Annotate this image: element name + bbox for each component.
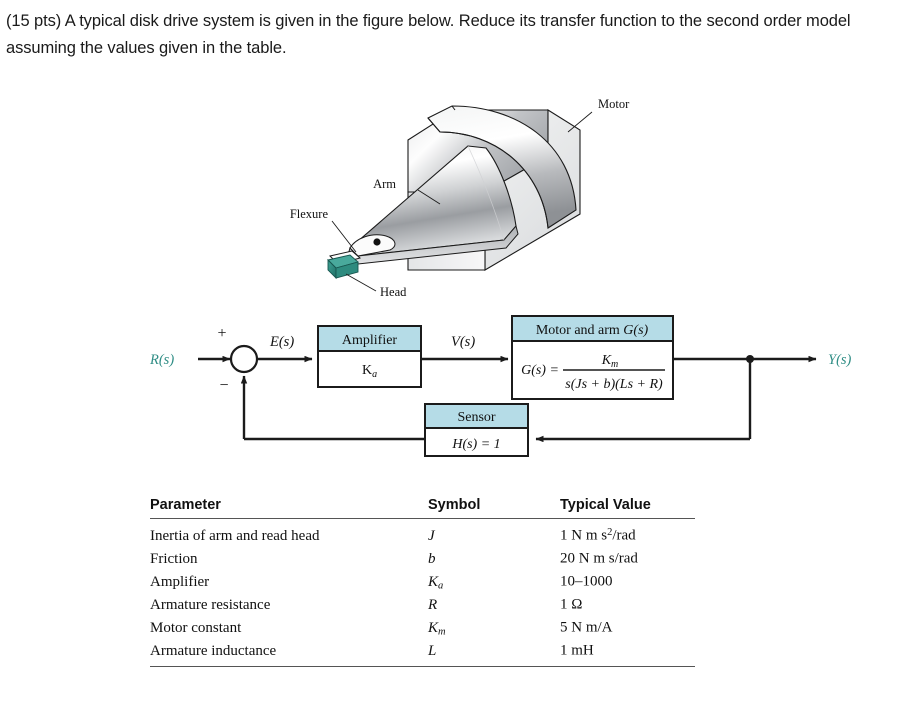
- symbol-subscript: a: [438, 580, 443, 591]
- sensor-block-header: Sensor: [457, 410, 495, 425]
- cell-value: 1 N m s2/rad: [560, 519, 695, 548]
- cell-value: 20 N m s/rad: [560, 548, 695, 571]
- table-header-row: Parameter Symbol Typical Value: [150, 497, 695, 519]
- cell-value: 10–1000: [560, 571, 695, 594]
- value-pre: 5 N m/A: [560, 620, 613, 636]
- control-system-block-diagram: R(s) + − E(s) Amplifier Ka V(s): [140, 308, 900, 458]
- summing-minus-sign: −: [219, 377, 228, 394]
- figure-label-flexure: Flexure: [290, 207, 329, 221]
- motor-arm-denominator: s(Js + b)(Ls + R): [565, 377, 663, 392]
- cell-symbol: b: [428, 548, 560, 571]
- disk-drive-mechanical-figure: Motor Arm Flexure Head: [280, 88, 700, 308]
- header-typical-value: Typical Value: [560, 497, 695, 519]
- figure-label-arm: Arm: [373, 177, 396, 191]
- symbol-main: K: [428, 620, 438, 636]
- amplifier-block-header: Amplifier: [342, 333, 398, 348]
- sensor-block-transfer: H(s) = 1: [451, 437, 500, 452]
- figure-label-motor: Motor: [598, 97, 630, 111]
- value-post: /rad: [612, 528, 635, 544]
- motor-arm-block-header: Motor and arm G(s): [536, 323, 649, 338]
- table-row: Armature resistance R 1 Ω: [150, 594, 695, 617]
- figure-label-head: Head: [380, 285, 407, 299]
- head-leader-line: [346, 274, 376, 291]
- motor-arm-lhs: G(s) =: [521, 363, 559, 378]
- motor-and-arm-block: Motor and arm G(s) G(s) = Km s(Js + b)(L…: [512, 316, 673, 399]
- cell-parameter: Amplifier: [150, 571, 428, 594]
- value-pre: 1 N m s: [560, 528, 607, 544]
- table-row: Friction b 20 N m s/rad: [150, 548, 695, 571]
- symbol-main: J: [428, 528, 435, 544]
- signal-label-input: R(s): [149, 352, 174, 368]
- table-body: Inertia of arm and read head J 1 N m s2/…: [150, 519, 695, 667]
- signal-label-error: E(s): [269, 334, 294, 350]
- symbol-main: R: [428, 597, 437, 613]
- signal-label-output: Y(s): [828, 352, 852, 368]
- cell-parameter: Friction: [150, 548, 428, 571]
- table-row: Armature inductance L 1 mH: [150, 640, 695, 667]
- value-pre: 10–1000: [560, 574, 613, 590]
- parameter-table: Parameter Symbol Typical Value Inertia o…: [150, 497, 695, 667]
- cell-parameter: Motor constant: [150, 617, 428, 640]
- symbol-subscript: m: [438, 626, 446, 637]
- table-row: Amplifier Ka 10–1000: [150, 571, 695, 594]
- cell-value: 1 Ω: [560, 594, 695, 617]
- symbol-main: b: [428, 551, 436, 567]
- signal-label-amp-out: V(s): [451, 334, 475, 350]
- cell-parameter: Armature resistance: [150, 594, 428, 617]
- cell-value: 1 mH: [560, 640, 695, 667]
- cell-symbol: J: [428, 519, 560, 548]
- value-pre: 1 mH: [560, 643, 594, 659]
- symbol-main: L: [428, 643, 436, 659]
- value-pre: 20 N m s/rad: [560, 551, 638, 567]
- cell-symbol: Ka: [428, 571, 560, 594]
- question-prompt-text: (15 pts) A typical disk drive system is …: [6, 8, 886, 62]
- cell-value: 5 N m/A: [560, 617, 695, 640]
- flexure-leader-line: [332, 221, 356, 252]
- amplifier-block: Amplifier Ka: [318, 326, 421, 387]
- value-pre: 1 Ω: [560, 597, 582, 613]
- cell-symbol: L: [428, 640, 560, 667]
- table-row: Motor constant Km 5 N m/A: [150, 617, 695, 640]
- header-symbol: Symbol: [428, 497, 560, 519]
- cell-symbol: R: [428, 594, 560, 617]
- cell-parameter: Inertia of arm and read head: [150, 519, 428, 548]
- pivot-dot-icon: [373, 238, 380, 245]
- header-parameter: Parameter: [150, 497, 428, 519]
- cell-parameter: Armature inductance: [150, 640, 428, 667]
- cell-symbol: Km: [428, 617, 560, 640]
- table-row: Inertia of arm and read head J 1 N m s2/…: [150, 519, 695, 548]
- sensor-block: Sensor H(s) = 1: [425, 404, 528, 456]
- symbol-main: K: [428, 574, 438, 590]
- summing-plus-sign: +: [217, 325, 226, 342]
- motor-leader-line: [568, 112, 592, 132]
